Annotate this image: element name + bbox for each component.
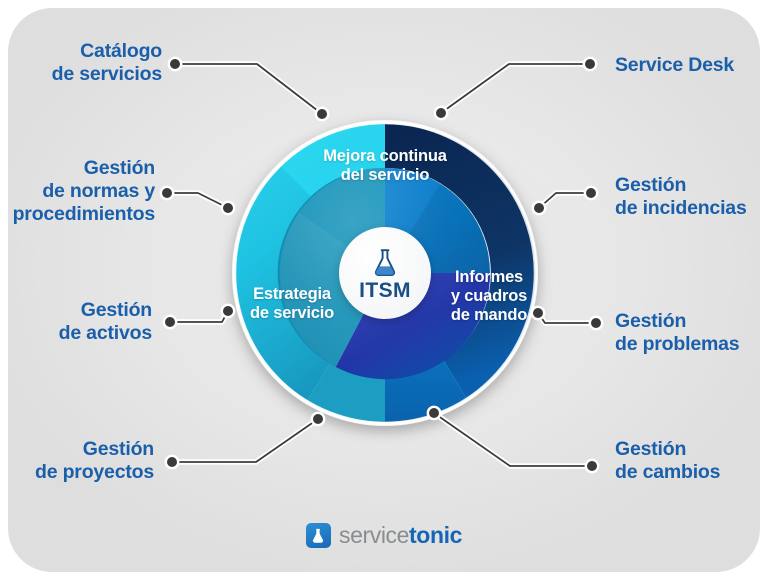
flask-icon: [368, 246, 402, 280]
logo-wordmark: servicetonic: [339, 522, 462, 549]
logo-text-service: service: [339, 522, 409, 548]
label-gestion-de-incidencias[interactable]: Gestión de incidencias: [615, 174, 767, 220]
label-gestion-de-activos[interactable]: Gestión de activos: [0, 299, 152, 345]
itsm-center-badge[interactable]: ITSM: [339, 227, 431, 319]
logo-text-tonic: tonic: [409, 522, 462, 548]
infographic-canvas: Mejora continua del servicio Informes y …: [0, 0, 768, 580]
servicetonic-logo[interactable]: servicetonic: [0, 522, 768, 549]
label-gestion-de-cambios[interactable]: Gestión de cambios: [615, 438, 767, 484]
label-gestion-de-normas-y-procedimientos[interactable]: Gestión de normas y procedimientos: [0, 157, 155, 226]
wheel-segment-label-informes: Informes y cuadros de mando: [434, 268, 544, 325]
wheel-segment-label-estrategia: Estrategia de servicio: [236, 285, 348, 323]
flask-icon: [306, 523, 331, 548]
label-gestion-de-proyectos[interactable]: Gestión de proyectos: [0, 438, 154, 484]
itsm-label: ITSM: [359, 279, 411, 303]
wheel-segment-label-mejora: Mejora continua del servicio: [295, 147, 475, 185]
label-catalogo-de-servicios[interactable]: Catálogo de servicios: [0, 40, 162, 86]
label-service-desk[interactable]: Service Desk: [615, 54, 765, 77]
label-gestion-de-problemas[interactable]: Gestión de problemas: [615, 310, 767, 356]
